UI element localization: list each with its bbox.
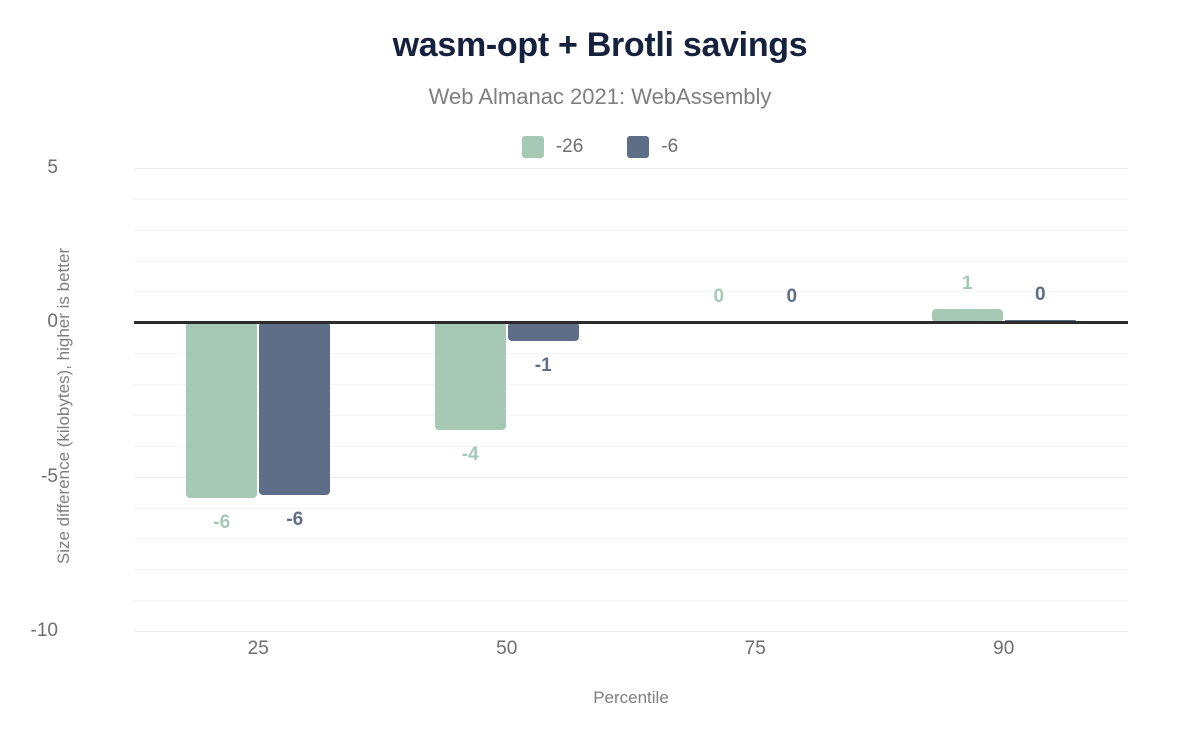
bar-value-label: -4: [435, 444, 506, 466]
bar-value-label: 0: [756, 286, 827, 308]
x-axis-tick-label: 75: [745, 638, 766, 660]
bar[interactable]: [186, 322, 257, 498]
plot-area: -6-6-4-10010: [134, 168, 1128, 631]
bar-value-label: -6: [186, 512, 257, 534]
y-axis-tick-label: 5: [2, 157, 58, 179]
chart-title: wasm-opt + Brotli savings: [0, 26, 1200, 65]
legend-item[interactable]: -6: [627, 136, 678, 158]
y-axis-tick-label: -10: [2, 620, 58, 642]
y-axis-title: Size difference (kilobytes), higher is b…: [54, 176, 74, 636]
bar-value-label: 0: [1005, 284, 1076, 306]
gridline: [134, 168, 1128, 169]
gridline: [134, 199, 1128, 200]
gridline: [134, 538, 1128, 539]
x-axis-tick-label: 25: [248, 638, 269, 660]
bar-value-label: 1: [932, 273, 1003, 295]
legend-swatch-icon: [627, 136, 649, 158]
chart-container: wasm-opt + Brotli savings Web Almanac 20…: [0, 0, 1200, 742]
x-axis-tick-label: 50: [496, 638, 517, 660]
x-axis-tick-label: 90: [993, 638, 1014, 660]
legend-item[interactable]: -26: [522, 136, 583, 158]
chart-subtitle: Web Almanac 2021: WebAssembly: [0, 84, 1200, 110]
chart-legend: -26-6: [0, 136, 1200, 158]
bar[interactable]: [435, 322, 506, 430]
gridline: [134, 569, 1128, 570]
gridline: [134, 600, 1128, 601]
gridline: [134, 261, 1128, 262]
bar-value-label: 0: [683, 286, 754, 308]
zero-baseline: [134, 321, 1128, 324]
bar[interactable]: [259, 322, 330, 495]
y-axis-tick-label: -5: [2, 466, 58, 488]
gridline: [134, 631, 1128, 632]
legend-item-label: -6: [661, 136, 678, 158]
bar[interactable]: [508, 322, 579, 341]
gridline: [134, 230, 1128, 231]
legend-item-label: -26: [556, 136, 583, 158]
legend-swatch-icon: [522, 136, 544, 158]
x-axis-title: Percentile: [134, 688, 1128, 708]
bar-value-label: -1: [508, 355, 579, 377]
y-axis-tick-label: 0: [2, 311, 58, 333]
bar-value-label: -6: [259, 509, 330, 531]
